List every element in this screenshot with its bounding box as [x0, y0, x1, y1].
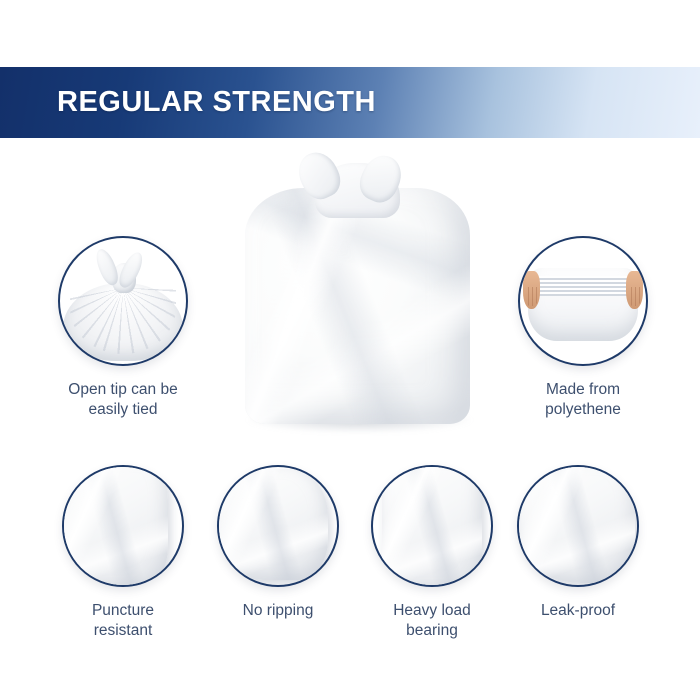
- tied-bag-top-icon: [60, 238, 186, 364]
- feature-circle: [518, 236, 648, 366]
- feature-label: Made from polyethene: [488, 380, 678, 421]
- feature-made-from-polyethene: Made from polyethene: [488, 236, 678, 421]
- feature-heavy-load-bearing: Heavy load bearing: [347, 465, 517, 642]
- feature-label: Heavy load bearing: [347, 601, 517, 642]
- hands-stretching-bag-icon: [520, 238, 646, 364]
- feature-label: Leak-proof: [493, 601, 663, 621]
- feature-circle: [58, 236, 188, 366]
- feature-circle: [217, 465, 339, 587]
- feature-label: Open tip can be easily tied: [28, 380, 218, 421]
- feature-label: No ripping: [193, 601, 363, 621]
- feature-circle: [62, 465, 184, 587]
- feature-circle: [371, 465, 493, 587]
- feature-puncture-resistant: Puncture resistant: [38, 465, 208, 642]
- feature-leak-proof: Leak-proof: [493, 465, 663, 621]
- feature-label: Puncture resistant: [38, 601, 208, 642]
- hero-bag-body: [245, 188, 470, 425]
- plastic-sheet-icon: [217, 469, 328, 580]
- plastic-sheet-icon: [382, 465, 481, 587]
- feature-circle: [517, 465, 639, 587]
- page-title: REGULAR STRENGTH: [57, 86, 376, 119]
- feature-no-ripping: No ripping: [193, 465, 363, 621]
- plastic-sheet-icon: [519, 465, 635, 583]
- header-banner: REGULAR STRENGTH: [0, 67, 700, 138]
- hero-product-image: [232, 152, 482, 427]
- plastic-sheet-icon: [62, 465, 168, 587]
- feature-open-tip: Open tip can be easily tied: [28, 236, 218, 421]
